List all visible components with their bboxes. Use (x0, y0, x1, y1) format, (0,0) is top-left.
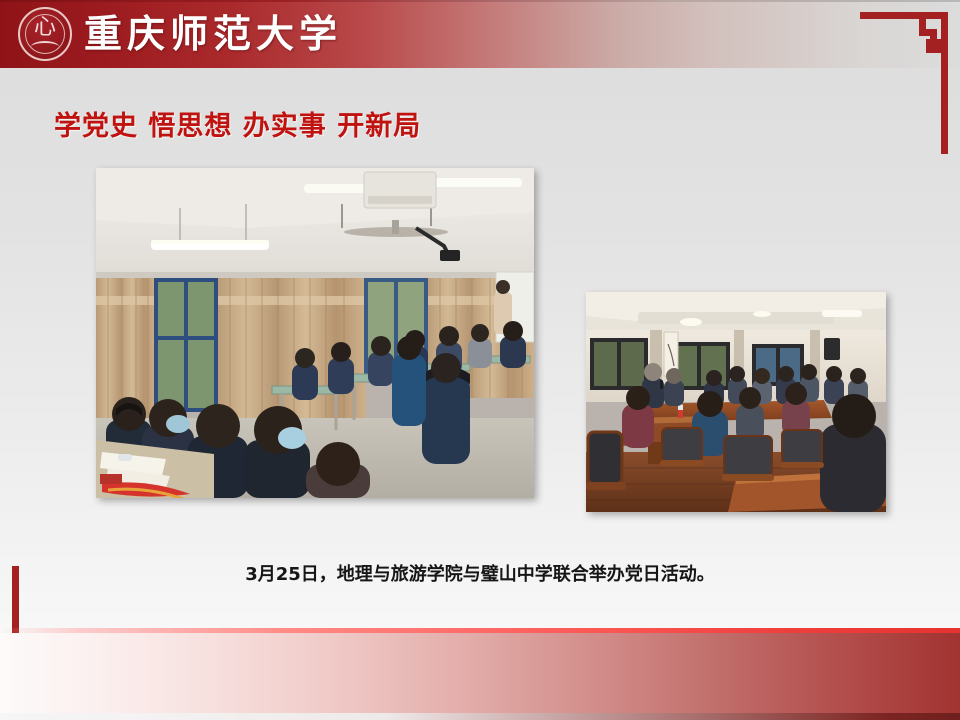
footer-banner (0, 633, 960, 713)
presentation-slide: 心 重庆师范大学 (0, 0, 960, 720)
slide-caption: 3月25日，地理与旅游学院与璧山中学联合举办党日活动。 (0, 560, 960, 586)
emblem-book-icon (31, 41, 59, 48)
top-right-corner-ornament (860, 8, 952, 158)
university-emblem-icon: 心 (18, 7, 72, 61)
footer-base-strip (0, 713, 960, 720)
meeting-room-discussion-photo (586, 292, 886, 512)
classroom-party-lesson-photo (96, 168, 534, 498)
emblem-glyph: 心 (20, 13, 70, 43)
page-title: 学党史 悟思想 办实事 开新局 (54, 104, 421, 143)
header-top-hairline (0, 0, 960, 2)
header-banner: 心 重庆师范大学 (0, 0, 960, 68)
university-name: 重庆师范大学 (84, 9, 342, 59)
